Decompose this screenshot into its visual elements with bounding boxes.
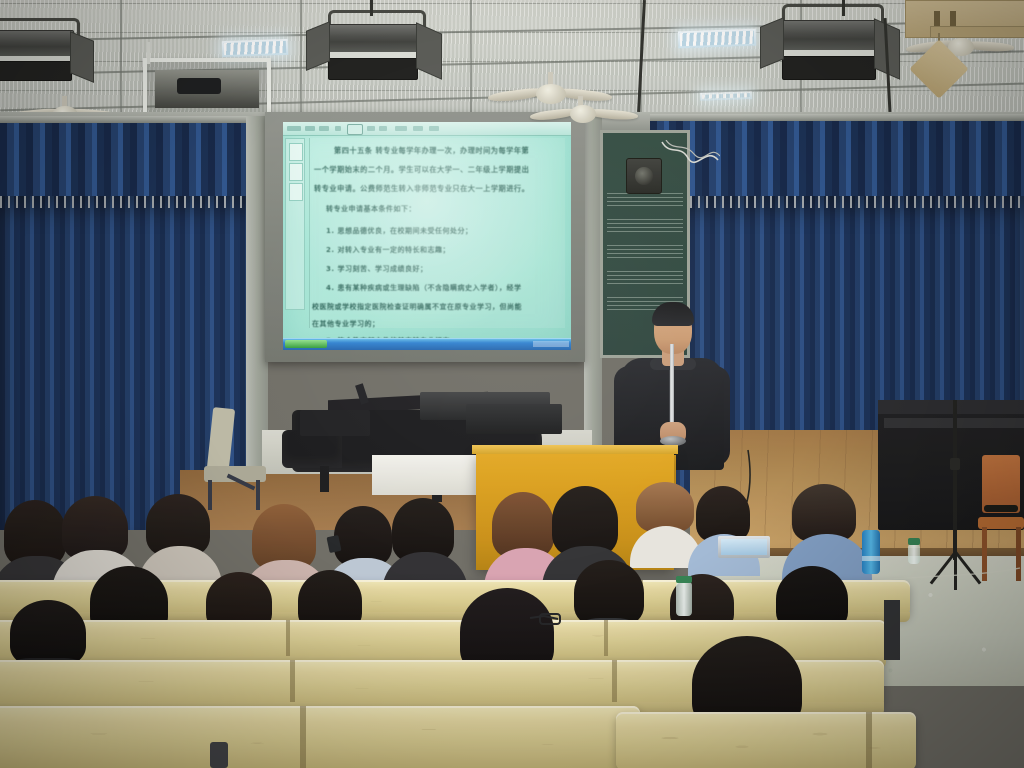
wall-speaker bbox=[626, 158, 662, 194]
stage-light-left bbox=[0, 18, 96, 90]
audience-person-9 bbox=[632, 482, 698, 566]
piano-bench[interactable] bbox=[300, 410, 370, 436]
seat-back bbox=[210, 742, 228, 768]
projector-cage bbox=[143, 58, 271, 118]
stage-light-center bbox=[318, 10, 442, 94]
fluorescent-troffer-right bbox=[678, 29, 757, 49]
desk-row-4 bbox=[0, 706, 640, 768]
audience-person-6 bbox=[388, 498, 460, 582]
audience-person-11 bbox=[788, 484, 862, 576]
folding-chair-left[interactable] bbox=[196, 408, 272, 508]
curtain-rail-right bbox=[650, 114, 1024, 121]
projection-screen: 第四十五条 转专业每学年办理一次，办理时间为每学年第 一个学期始末的二个月。学生… bbox=[283, 122, 571, 350]
ceiling bbox=[0, 0, 1024, 120]
curtain-hooks-right bbox=[650, 196, 1024, 208]
aisle-rail bbox=[884, 600, 900, 660]
water-bottle-back[interactable] bbox=[908, 544, 920, 564]
curtain-hooks-left bbox=[0, 196, 262, 208]
speaker-hair bbox=[652, 302, 694, 326]
water-bottle-front[interactable] bbox=[676, 582, 692, 616]
hanging-cables bbox=[660, 140, 720, 168]
lecture-hall-photo: 第四十五条 转专业每学年办理一次，办理时间为每学年第 一个学期始末的二个月。学生… bbox=[0, 0, 1024, 768]
av-equipment-b bbox=[466, 404, 562, 434]
fluorescent-troffer-left bbox=[222, 39, 289, 57]
glasses-icon bbox=[528, 610, 564, 632]
blue-thermos[interactable] bbox=[862, 530, 880, 574]
curtain-valance-left bbox=[0, 118, 262, 208]
ceiling-fan-over-screen bbox=[530, 96, 640, 130]
curtain-rail-left bbox=[0, 116, 262, 123]
acoustic-wood-bar bbox=[930, 26, 1024, 38]
stage-light-right-a bbox=[768, 4, 900, 94]
open-laptop[interactable] bbox=[718, 536, 770, 560]
